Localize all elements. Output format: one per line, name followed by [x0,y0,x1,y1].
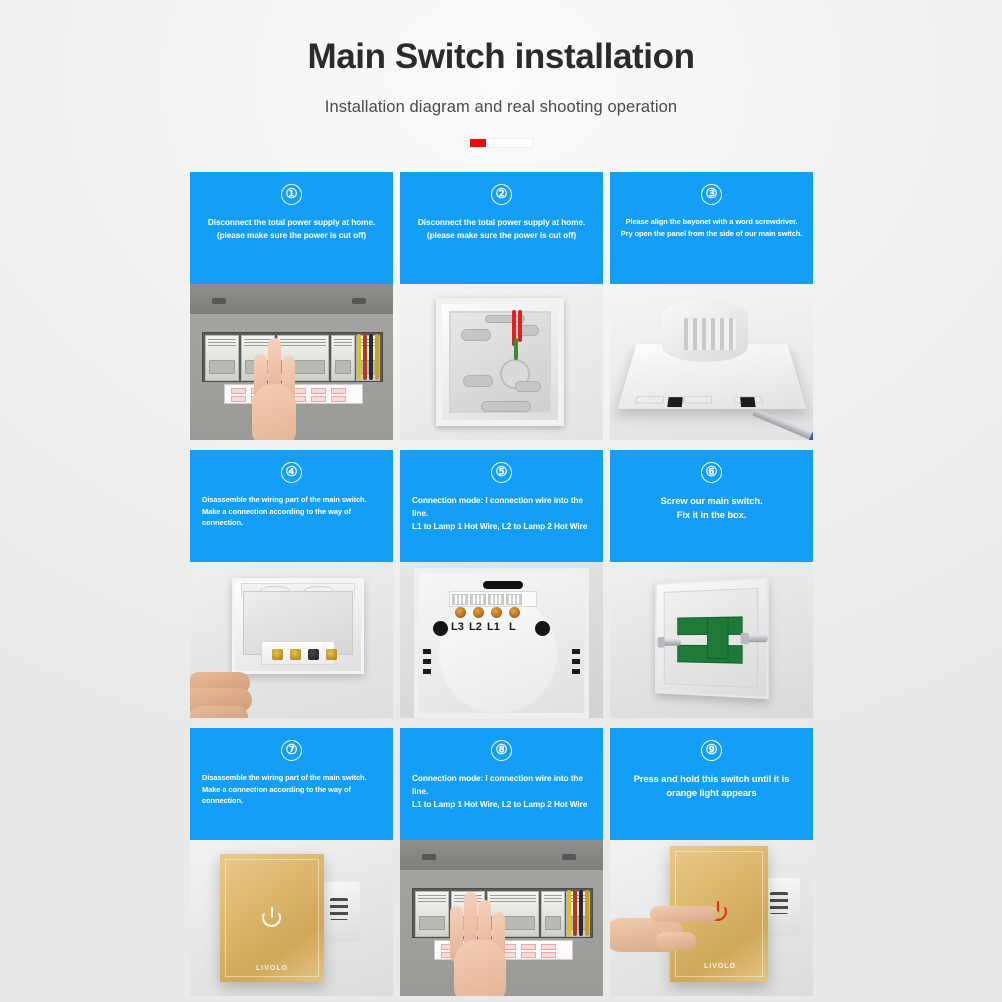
step-card-1: ① Disconnect the total power supply at h… [190,172,393,440]
brand-label: LIVOLO [256,965,288,972]
header: Main Switch installation Installation di… [0,0,1002,147]
step-photo-9: LIVOLO [610,840,813,996]
step-number-6: ⑥ [701,462,722,483]
step-photo-6 [610,562,813,718]
step-number-2: ② [491,184,512,205]
step-photo-1 [190,284,393,440]
step-caption-2: ② Disconnect the total power supply at h… [400,172,603,284]
step-card-7: ⑦ Disassemble the wiring part of the mai… [190,728,393,996]
step-card-5: ⑤ Connection mode: I connection wire int… [400,450,603,718]
accent-progress-fill [470,139,486,147]
gold-touch-panel: LIVOLO [220,854,324,982]
step-number-9: ⑨ [701,740,722,761]
step-card-8: ⑧ Connection mode: I connection wire int… [400,728,603,996]
step-text-1: Disconnect the total power supply at hom… [197,216,386,242]
step-photo-5: L3 L2 L1 L [400,562,603,718]
step-text-9: Press and hold this switch until it is o… [617,772,806,800]
step-photo-2 [400,284,603,440]
infographic-page: Main Switch installation Installation di… [0,0,1002,1002]
step-text-2: Disconnect the total power supply at hom… [407,216,596,242]
step-number-3: ③ [701,184,722,205]
step-number-5: ⑤ [491,462,512,483]
step-caption-3: ③ Please align the bayonet with a word s… [610,172,813,284]
step-card-2: ② Disconnect the total power supply at h… [400,172,603,440]
step-caption-5: ⑤ Connection mode: I connection wire int… [400,450,603,562]
step-caption-7: ⑦ Disassemble the wiring part of the mai… [190,728,393,840]
step-photo-7: LIVOLO [190,840,393,996]
terminal-label-l2: L2 [469,621,482,633]
step-photo-8 [400,840,603,996]
steps-grid: ① Disconnect the total power supply at h… [190,172,812,996]
step-photo-4 [190,562,393,718]
accent-progress-bar [470,139,532,147]
step-photo-3 [610,284,813,440]
step-text-3: Please align the bayonet with a word scr… [617,216,806,239]
step-number-1: ① [281,184,302,205]
step-caption-4: ④ Disassemble the wiring part of the mai… [190,450,393,562]
step-caption-6: ⑥ Screw our main switch. Fix it in the b… [610,450,813,562]
page-title: Main Switch installation [0,36,1002,78]
step-number-8: ⑧ [491,740,512,761]
step-caption-9: ⑨ Press and hold this switch until it is… [610,728,813,840]
power-icon [262,908,281,927]
terminal-label-l: L [509,621,516,633]
step-text-4: Disassemble the wiring part of the main … [197,494,386,529]
terminal-label-l1: L1 [487,621,500,633]
step-card-9: ⑨ Press and hold this switch until it is… [610,728,813,996]
terminal-label-l3: L3 [451,621,464,633]
brand-label: LIVOLO [704,963,736,970]
step-text-7: Disassemble the wiring part of the main … [197,772,386,807]
page-subtitle: Installation diagram and real shooting o… [0,98,1002,117]
step-text-8: Connection mode: I connection wire into … [407,772,596,811]
step-text-6: Screw our main switch. Fix it in the box… [617,494,806,522]
step-card-3: ③ Please align the bayonet with a word s… [610,172,813,440]
step-number-7: ⑦ [281,740,302,761]
step-card-6: ⑥ Screw our main switch. Fix it in the b… [610,450,813,718]
step-text-5: Connection mode: I connection wire into … [407,494,596,533]
step-card-4: ④ Disassemble the wiring part of the mai… [190,450,393,718]
step-caption-8: ⑧ Connection mode: I connection wire int… [400,728,603,840]
step-number-4: ④ [281,462,302,483]
step-caption-1: ① Disconnect the total power supply at h… [190,172,393,284]
